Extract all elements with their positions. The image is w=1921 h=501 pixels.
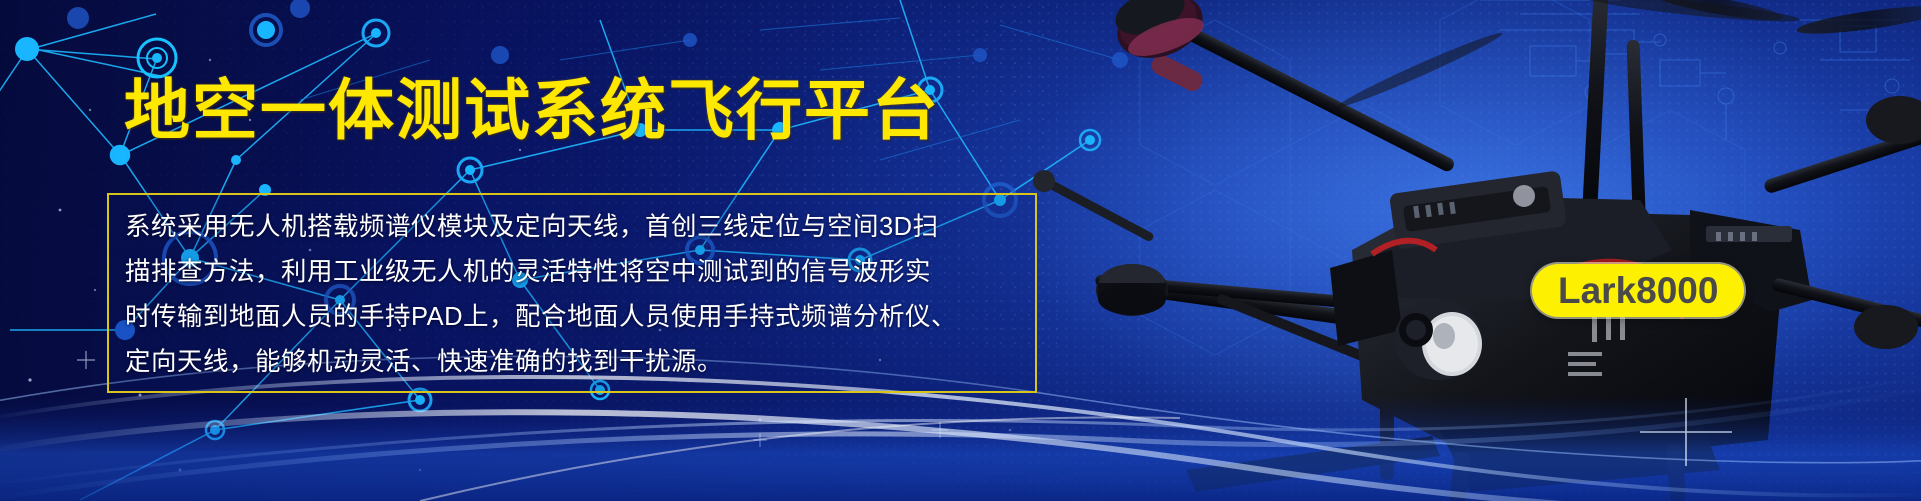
product-model-label: Lark8000 — [1558, 272, 1718, 309]
description-line: 描排查方法，利用工业级无人机的灵活特性将空中测试到的信号波形实 — [125, 250, 1019, 295]
description-line: 系统采用无人机搭载频谱仪模块及定向天线，首创三线定位与空间3D扫 — [125, 205, 1019, 250]
description-line: 时传输到地面人员的手持PAD上，配合地面人员使用手持式频谱分析仪、 — [125, 295, 1019, 340]
page-title: 地空一体测试系统飞行平台 — [124, 77, 940, 143]
product-banner: 地空一体测试系统飞行平台 系统采用无人机搭载频谱仪模块及定向天线，首创三线定位与… — [0, 0, 1921, 501]
product-model-badge: Lark8000 — [1532, 264, 1744, 317]
description-line: 定向天线，能够机动灵活、快速准确的找到干扰源。 — [125, 340, 1019, 385]
description-box: 系统采用无人机搭载频谱仪模块及定向天线，首创三线定位与空间3D扫 描排查方法，利… — [107, 193, 1037, 393]
